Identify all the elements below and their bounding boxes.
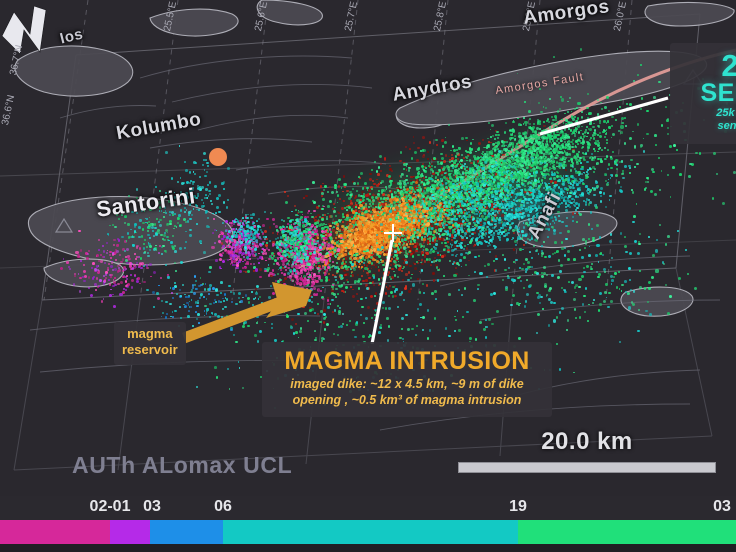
colorbar-tick: 03	[143, 498, 161, 516]
seismicity-subline-2: sens	[680, 120, 736, 134]
seismicity-title: SEIS	[680, 80, 736, 106]
magma-intrusion-callout[interactable]: MAGMA INTRUSION imaged dike: ~12 x 4.5 k…	[262, 342, 552, 417]
colorbar-tick: 03	[713, 498, 731, 516]
colorbar-segment[interactable]	[0, 520, 110, 544]
colorbar-footer-strip	[0, 544, 736, 552]
magma-leader-line	[372, 240, 392, 344]
scale-bar: 20.0 km	[458, 428, 716, 473]
colorbar-tick: 06	[214, 498, 232, 516]
colorbar-tick: 02-01	[90, 498, 131, 516]
seismicity-count: 2	[680, 51, 736, 80]
magma-reservoir-callout[interactable]: magma reservoir	[114, 322, 186, 365]
magma-intrusion-subline-1: imaged dike: ~12 x 4.5 km, ~9 m of dike	[270, 376, 544, 393]
seismicity-callout[interactable]: 2 SEIS 25k v sens	[670, 43, 736, 144]
scale-bar-label: 20.0 km	[458, 428, 716, 456]
magma-reservoir-arrow	[184, 282, 312, 338]
colorbar-gradient[interactable]	[0, 520, 736, 544]
map-canvas[interactable]: 36.7°N36.6°N25.5°E25.6°E25.7°E25.8°E25.9…	[0, 0, 736, 496]
colorbar-segment[interactable]	[110, 520, 150, 544]
seismicity-visualization: 36.7°N36.6°N25.5°E25.6°E25.7°E25.8°E25.9…	[0, 0, 736, 552]
credits-text: AUTh ALomax UCL	[72, 452, 292, 479]
seismicity-leader-line	[540, 98, 668, 134]
magma-intrusion-title: MAGMA INTRUSION	[270, 348, 544, 376]
colorbar-legend[interactable]: 02-0103061903	[0, 496, 736, 552]
magma-intrusion-subline-2: opening , ~0.5 km³ of magma intrusion	[270, 392, 544, 409]
colorbar-segment[interactable]	[518, 520, 736, 544]
colorbar-segment[interactable]	[150, 520, 223, 544]
colorbar-segment[interactable]	[223, 520, 518, 544]
colorbar-tick: 19	[509, 498, 527, 516]
seismicity-subline-1: 25k v	[680, 107, 736, 121]
magma-reservoir-line-1: magma	[122, 326, 178, 342]
colorbar-tick-labels: 02-0103061903	[0, 498, 736, 520]
annotation-leaders	[0, 0, 736, 496]
scale-bar-rule	[458, 462, 716, 473]
magma-reservoir-line-2: reservoir	[122, 342, 178, 358]
